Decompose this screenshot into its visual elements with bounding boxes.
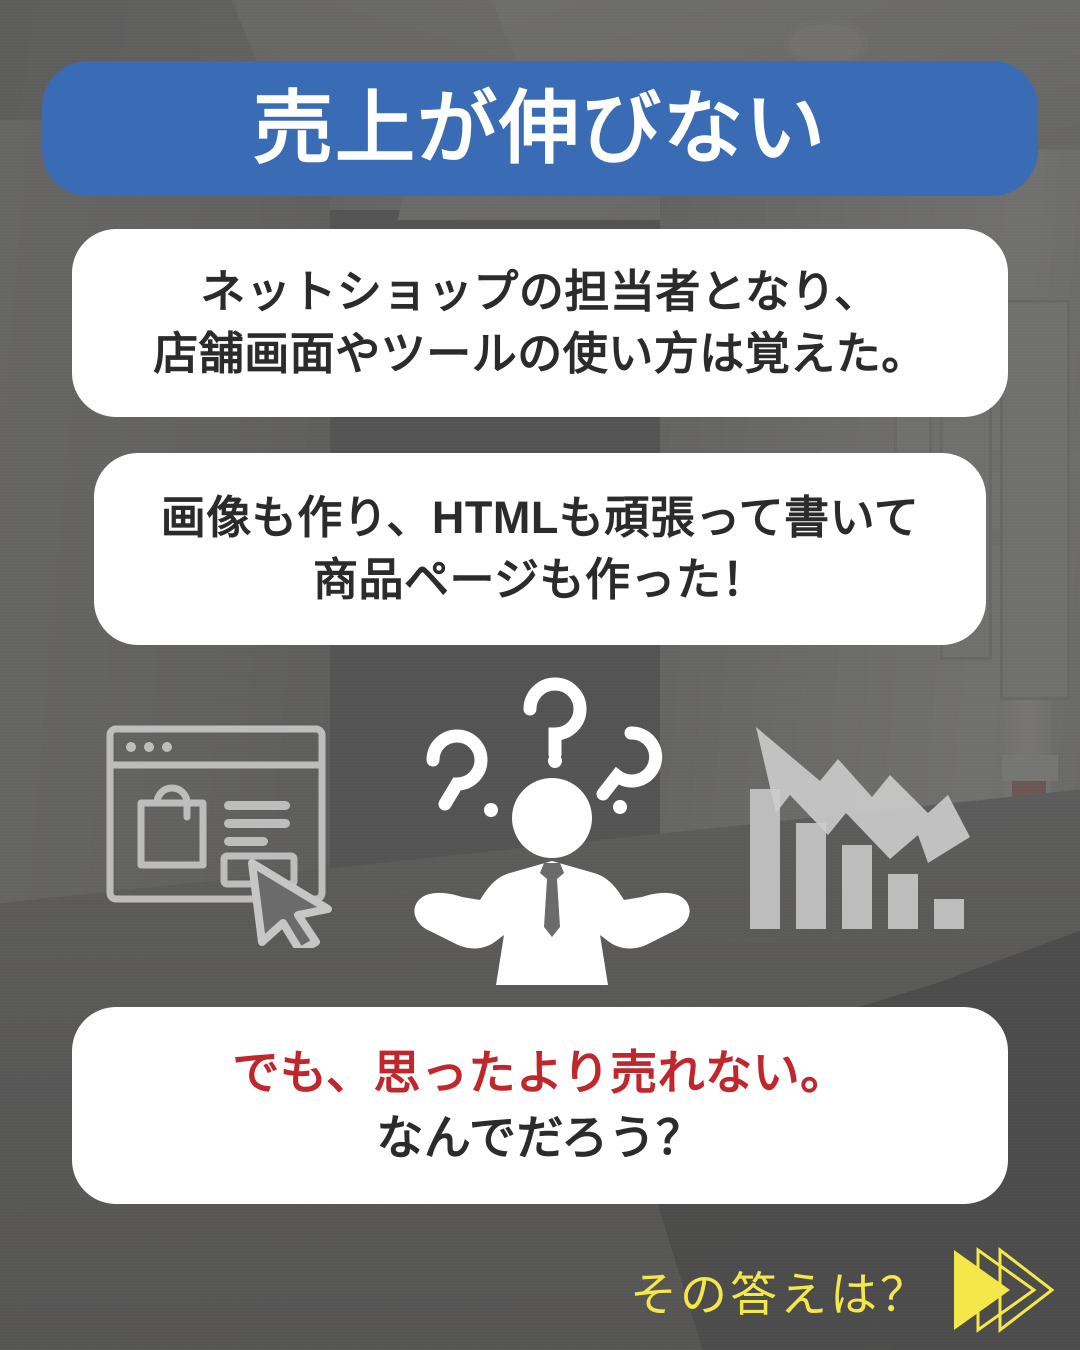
question-mark-left-icon	[433, 736, 481, 804]
arrow-solid-icon	[954, 1250, 1010, 1330]
title-banner: 売上が伸びない	[42, 61, 1038, 196]
message-box-1: ネットショップの担当者となり、 店舗画面やツールの使い方は覚えた。	[72, 229, 1008, 417]
illustration-strip	[0, 655, 1080, 985]
message-box-2-line-1: 画像も作り、HTMLも頑張って書いて	[161, 487, 920, 549]
message-box-2: 画像も作り、HTMLも頑張って書いて 商品ページも作った！	[94, 453, 986, 645]
person-head	[512, 778, 592, 858]
chart-trend-arrow	[756, 727, 970, 863]
cursor-arrow-icon	[252, 863, 328, 948]
declining-bar-chart-icon	[742, 717, 978, 953]
foreground-layer: 売上が伸びない ネットショップの担当者となり、 店舗画面やツールの使い方は覚えた…	[0, 0, 1080, 1350]
message-box-3-line-1: でも、思ったより売れない。	[232, 1041, 847, 1106]
call-to-action[interactable]: その答えは？	[630, 1244, 1056, 1336]
question-mark-center-icon	[530, 684, 580, 754]
question-mark-right-icon	[603, 733, 656, 794]
cta-label: その答えは？	[630, 1256, 930, 1325]
message-box-3: でも、思ったより売れない。 なんでだろう？	[72, 1007, 1008, 1204]
message-box-1-line-2: 店舗画面やツールの使い方は覚えた。	[153, 323, 927, 385]
message-box-3-line-2: なんでだろう？	[376, 1106, 703, 1171]
message-box-1-line-1: ネットショップの担当者となり、	[200, 261, 879, 323]
page-title: 売上が伸びない	[253, 89, 827, 169]
poster-canvas: 売上が伸びない ネットショップの担当者となり、 店舗画面やツールの使い方は覚えた…	[0, 0, 1080, 1350]
triple-chevron-right-icon[interactable]	[948, 1244, 1056, 1336]
confused-person-icon	[392, 665, 712, 985]
online-shop-window-icon	[104, 723, 356, 948]
message-box-2-line-2: 商品ページも作った！	[313, 549, 767, 611]
